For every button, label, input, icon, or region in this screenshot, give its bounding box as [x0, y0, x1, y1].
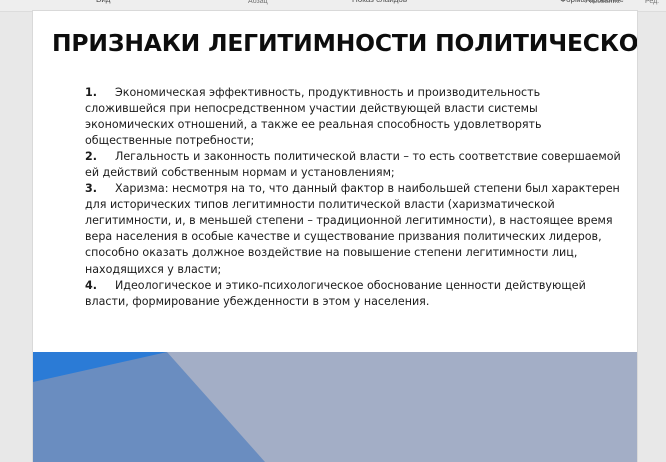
ribbon-group-drawing: Рисование: [585, 0, 620, 5]
slide-decoration-triangles: [33, 352, 637, 462]
list-item-number: 2.: [85, 149, 115, 165]
list-item-number: 3.: [85, 181, 115, 197]
ribbon-group-editing: Ред.: [645, 0, 659, 5]
ribbon-tab-view[interactable]: Вид: [96, 0, 110, 4]
list-item-text: Экономическая эффективность, продуктивно…: [85, 86, 542, 147]
list-item-text: Легальность и законность политической вл…: [85, 150, 621, 179]
slide-title[interactable]: ПРИЗНАКИ ЛЕГИТИМНОСТИ ПОЛИТИЧЕСКОЙ ВЛАСТ…: [52, 30, 622, 57]
list-item-text: Идеологическое и этико-психологическое о…: [85, 279, 586, 308]
list-item: 3.Харизма: несмотря на то, что данный фа…: [85, 181, 621, 277]
decoration-svg: [33, 352, 637, 462]
slide-canvas[interactable]: ПРИЗНАКИ ЛЕГИТИМНОСТИ ПОЛИТИЧЕСКОЙ ВЛАСТ…: [33, 11, 637, 462]
list-item: 2.Легальность и законность политической …: [85, 149, 621, 181]
ribbon-group-paragraph: Абзац: [248, 0, 268, 5]
slide-body-textbox[interactable]: 1.Экономическая эффективность, продуктив…: [85, 85, 621, 310]
list-item-number: 4.: [85, 278, 115, 294]
list-item-number: 1.: [85, 85, 115, 101]
ribbon-tab-slideshow[interactable]: Показ слайдов: [352, 0, 407, 4]
list-item-text: Харизма: несмотря на то, что данный факт…: [85, 182, 620, 275]
list-item: 1.Экономическая эффективность, продуктив…: [85, 85, 621, 149]
list-item: 4.Идеологическое и этико-психологическое…: [85, 278, 621, 310]
powerpoint-window: Вид Показ слайдов Форматирование Абзац Р…: [0, 0, 666, 462]
